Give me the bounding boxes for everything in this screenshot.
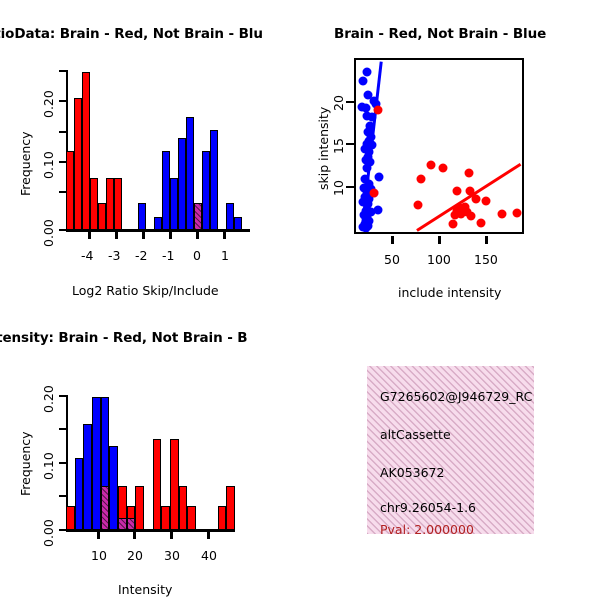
scatter-point xyxy=(426,161,435,170)
scatter-x-ticklabel-50: 50 xyxy=(384,252,400,267)
scatter-point xyxy=(363,67,372,76)
ratio-histogram-y-tick-0.25 xyxy=(59,70,66,72)
histogram-bar xyxy=(101,486,110,530)
scatter-x-tick-50 xyxy=(391,236,394,244)
histogram-bar xyxy=(186,117,194,230)
histogram-bar xyxy=(106,178,114,230)
intensity-histogram-panel: ne Itensity: Brain - Red, Not Brain - B … xyxy=(0,305,300,600)
histogram-bar xyxy=(210,130,218,230)
ratio-histogram-y-tick-0.15 xyxy=(59,131,66,133)
scatter-y-tick-20 xyxy=(346,101,354,103)
ratio-histogram-x-tick--2 xyxy=(142,231,145,239)
ratio-histogram-x-tick-0 xyxy=(196,231,199,239)
scatter-plot-area xyxy=(354,58,524,234)
scatter-point xyxy=(375,172,384,181)
scatter-y-ticklabel-10: 10 xyxy=(331,180,346,196)
scatter-point xyxy=(497,209,506,218)
histogram-bar xyxy=(154,217,162,230)
scatter-y-tick-10 xyxy=(346,186,354,188)
ratio-histogram-y-tick-0.05 xyxy=(59,191,66,193)
histogram-bar xyxy=(66,506,75,530)
scatter-point xyxy=(450,210,459,219)
histogram-bar xyxy=(118,518,127,530)
ratio-histogram-x-ticklabel--1: -1 xyxy=(162,248,174,263)
histogram-bar xyxy=(194,203,202,230)
scatter-panel: Brain - Red, Not Brain - Blue skip inten… xyxy=(300,0,600,305)
scatter-x-ticklabel-100: 100 xyxy=(427,252,451,267)
annotation-accession: AK053672 xyxy=(380,465,444,480)
histogram-bar xyxy=(98,203,106,230)
histogram-bar xyxy=(66,151,74,230)
scatter-y-tick-15 xyxy=(346,143,354,145)
scatter-point xyxy=(476,218,485,227)
event-annotation-box: G7265602@J946729_RC altCassette AK053672… xyxy=(367,366,534,534)
ratio-histogram-y-ticklabel-0.10: 0.10 xyxy=(41,151,56,179)
intensity-histogram-x-tick-30 xyxy=(170,531,173,539)
scatter-point xyxy=(438,163,447,172)
histogram-bar xyxy=(170,178,178,230)
scatter-point xyxy=(363,163,372,172)
scatter-point xyxy=(471,195,480,204)
annotation-probe-id: G7265602@J946729_RC xyxy=(380,389,532,404)
histogram-bar xyxy=(75,458,84,530)
histogram-bar xyxy=(83,424,92,530)
histogram-bar xyxy=(226,486,235,530)
ratio-histogram-x-tick-1 xyxy=(223,231,226,239)
scatter-point xyxy=(370,189,379,198)
intensity-histogram-x-ticklabel-30: 30 xyxy=(164,548,180,563)
intensity-histogram-x-ticklabel-20: 20 xyxy=(127,548,143,563)
ratio-histogram-x-ticklabel--3: -3 xyxy=(108,248,120,263)
histogram-bar xyxy=(92,397,101,530)
intensity-histogram-x-tick-10 xyxy=(97,531,100,539)
scatter-point xyxy=(464,169,473,178)
ratio-histogram-title: RatioData: Brain - Red, Not Brain - Blu xyxy=(0,26,263,42)
annotation-locus: chr9.26054-1.6 xyxy=(380,500,476,515)
intensity-histogram-bars xyxy=(66,394,235,530)
scatter-y-ticklabel-20: 20 xyxy=(331,95,346,111)
ratio-histogram-y-tick-0.00 xyxy=(59,229,66,231)
intensity-histogram-x-axis-label: Intensity xyxy=(118,582,172,597)
intensity-histogram-title: ne Itensity: Brain - Red, Not Brain - B xyxy=(0,330,247,346)
ratio-histogram-x-tick--1 xyxy=(169,231,172,239)
histogram-bar xyxy=(153,439,162,530)
histogram-bar xyxy=(114,178,122,230)
histogram-bar xyxy=(90,178,98,230)
scatter-point xyxy=(482,197,491,206)
scatter-y-axis-label: skip intensity xyxy=(316,107,331,190)
intensity-histogram-x-ticklabel-10: 10 xyxy=(91,548,107,563)
ratio-histogram-x-ticklabel--2: -2 xyxy=(135,248,147,263)
scatter-x-axis-label: include intensity xyxy=(398,285,501,300)
ratio-histogram-x-tick--3 xyxy=(115,231,118,239)
histogram-bar xyxy=(170,439,179,530)
ratio-histogram-y-tick-0.10 xyxy=(59,161,66,163)
ratio-histogram-x-axis-label: Log2 Ratio Skip/Include xyxy=(72,283,219,298)
histogram-bar xyxy=(179,486,188,530)
scatter-point xyxy=(416,175,425,184)
scatter-y-ticklabel-15: 15 xyxy=(331,138,346,154)
scatter-point xyxy=(413,200,422,209)
scatter-point xyxy=(374,105,383,114)
ratio-histogram-y-ticklabel-0.20: 0.20 xyxy=(41,90,56,118)
intensity-histogram-y-tick-0.10 xyxy=(59,462,66,464)
histogram-bar xyxy=(109,446,118,530)
scatter-point xyxy=(448,219,457,228)
ratio-histogram-y-axis-label: Frequency xyxy=(18,131,33,196)
scatter-point xyxy=(367,113,376,122)
intensity-histogram-y-tick-0.20 xyxy=(59,395,66,397)
scatter-x-tick-150 xyxy=(485,236,488,244)
histogram-bar xyxy=(74,98,82,230)
intensity-histogram-x-tick-20 xyxy=(133,531,136,539)
histogram-bar xyxy=(161,506,170,530)
histogram-bar xyxy=(178,138,186,230)
intensity-histogram-y-tick-0.00 xyxy=(59,529,66,531)
histogram-bar xyxy=(138,203,146,230)
intensity-histogram-y-axis-label: Frequency xyxy=(18,431,33,496)
histogram-bar xyxy=(187,506,196,530)
histogram-bar xyxy=(202,151,210,230)
annotation-pval: Pval: 2.000000 xyxy=(380,522,474,534)
histogram-bar xyxy=(127,518,136,530)
scatter-point xyxy=(513,208,522,217)
ratio-histogram-panel: RatioData: Brain - Red, Not Brain - Blu … xyxy=(0,0,300,305)
ratio-histogram-y-tick-0.20 xyxy=(59,100,66,102)
scatter-point xyxy=(362,224,371,232)
scatter-x-tick-100 xyxy=(438,236,441,244)
intensity-histogram-y-ticklabel-0.20: 0.20 xyxy=(41,385,56,413)
scatter-point xyxy=(467,211,476,220)
intensity-histogram-y-tick-0.15 xyxy=(59,428,66,430)
ratio-histogram-x-ticklabel-1: 1 xyxy=(221,248,229,263)
scatter-point xyxy=(460,202,469,211)
intensity-histogram-y-ticklabel-0.10: 0.10 xyxy=(41,452,56,480)
ratio-histogram-y-ticklabel-0.00: 0.00 xyxy=(41,219,56,247)
intensity-histogram-x-ticklabel-40: 40 xyxy=(201,548,217,563)
intensity-histogram-y-ticklabel-0.00: 0.00 xyxy=(41,519,56,547)
scatter-point xyxy=(359,76,368,85)
histogram-bar xyxy=(82,72,90,230)
annotation-event-type: altCassette xyxy=(380,427,451,442)
histogram-bar xyxy=(218,506,227,530)
histogram-bar xyxy=(226,203,234,230)
histogram-bar xyxy=(234,217,242,230)
ratio-histogram-bars xyxy=(66,69,250,230)
ratio-histogram-x-ticklabel--4: -4 xyxy=(81,248,93,263)
intensity-histogram-y-tick-0.05 xyxy=(59,495,66,497)
scatter-point xyxy=(452,187,461,196)
histogram-bar xyxy=(162,151,170,230)
scatter-x-ticklabel-150: 150 xyxy=(474,252,498,267)
intensity-histogram-x-tick-40 xyxy=(207,531,210,539)
scatter-title: Brain - Red, Not Brain - Blue xyxy=(334,26,546,42)
histogram-bar xyxy=(135,486,144,530)
ratio-histogram-x-ticklabel-0: 0 xyxy=(193,248,201,263)
ratio-histogram-x-tick--4 xyxy=(88,231,91,239)
